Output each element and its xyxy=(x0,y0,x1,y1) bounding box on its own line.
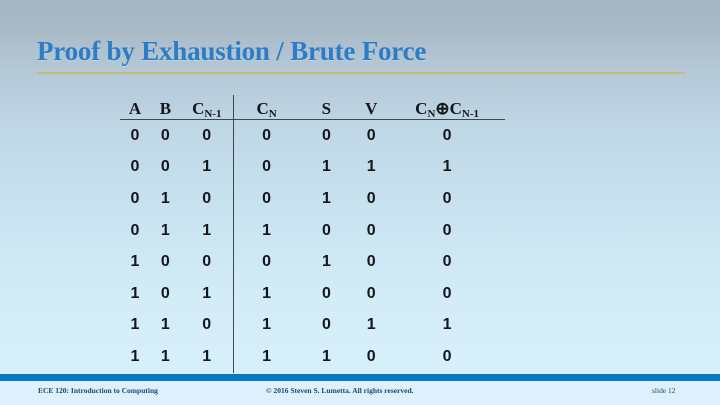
header-v: V xyxy=(353,95,389,120)
cell-c-n: 0 xyxy=(233,152,299,184)
cell-c-n: 0 xyxy=(233,120,299,152)
header-xor-sub-1: N xyxy=(427,108,435,120)
cell-c-n: 1 xyxy=(233,310,299,342)
cell-b: 1 xyxy=(150,341,181,373)
cell-c-n-minus-1: 1 xyxy=(181,278,233,310)
header-c-n-sub: N xyxy=(269,108,277,120)
cell-b: 0 xyxy=(150,120,181,152)
cell-a: 0 xyxy=(120,183,150,215)
cell-s: 1 xyxy=(300,341,354,373)
cell-c-n: 1 xyxy=(233,341,299,373)
cell-s: 0 xyxy=(300,215,354,247)
table-row: 0 1 1 1 0 0 0 xyxy=(120,215,505,247)
cell-c-n: 1 xyxy=(233,215,299,247)
cell-b: 0 xyxy=(150,246,181,278)
cell-c-n: 1 xyxy=(233,278,299,310)
cell-v: 0 xyxy=(353,246,389,278)
cell-a: 0 xyxy=(120,152,150,184)
cell-a: 1 xyxy=(120,278,150,310)
header-xor-base-2: C xyxy=(450,99,462,118)
cell-c-n-minus-1: 0 xyxy=(181,183,233,215)
table-row: 1 1 0 1 0 1 1 xyxy=(120,310,505,342)
cell-b: 0 xyxy=(150,152,181,184)
footer-accent-bar xyxy=(0,374,720,381)
cell-xor: 0 xyxy=(389,183,505,215)
cell-xor: 1 xyxy=(389,310,505,342)
cell-c-n: 0 xyxy=(233,246,299,278)
cell-xor: 1 xyxy=(389,152,505,184)
cell-xor: 0 xyxy=(389,341,505,373)
table-row: 0 1 0 0 1 0 0 xyxy=(120,183,505,215)
cell-xor: 0 xyxy=(389,246,505,278)
header-b: B xyxy=(150,95,181,120)
cell-a: 1 xyxy=(120,310,150,342)
cell-b: 1 xyxy=(150,310,181,342)
footer-copyright-label: © 2016 Steven S. Lumetta. All rights res… xyxy=(266,386,414,395)
title-divider-rule xyxy=(37,72,685,74)
cell-v: 1 xyxy=(353,152,389,184)
cell-xor: 0 xyxy=(389,120,505,152)
cell-s: 0 xyxy=(300,278,354,310)
footer: ECE 120: Introduction to Computing © 201… xyxy=(0,381,720,405)
header-s: S xyxy=(300,95,354,120)
cell-s: 0 xyxy=(300,310,354,342)
header-xor-base-1: C xyxy=(415,99,427,118)
truth-table: A B CN-1 CN S V CN⊕CN-1 0 0 0 0 0 0 0 xyxy=(120,95,505,373)
cell-c-n-minus-1: 0 xyxy=(181,310,233,342)
cell-v: 0 xyxy=(353,341,389,373)
header-c-n-minus-1-base: C xyxy=(192,99,204,118)
header-c-n-xor-c-n-minus-1: CN⊕CN-1 xyxy=(389,95,505,120)
cell-v: 0 xyxy=(353,120,389,152)
header-c-n-minus-1: CN-1 xyxy=(181,95,233,120)
xor-operator-icon: ⊕ xyxy=(435,99,449,118)
cell-v: 1 xyxy=(353,310,389,342)
footer-slide-number: slide 12 xyxy=(652,386,676,395)
cell-c-n-minus-1: 0 xyxy=(181,246,233,278)
cell-v: 0 xyxy=(353,215,389,247)
cell-s: 1 xyxy=(300,183,354,215)
cell-b: 1 xyxy=(150,215,181,247)
cell-xor: 0 xyxy=(389,278,505,310)
table-row: 0 0 1 0 1 1 1 xyxy=(120,152,505,184)
cell-v: 0 xyxy=(353,278,389,310)
cell-a: 1 xyxy=(120,246,150,278)
page-title: Proof by Exhaustion / Brute Force xyxy=(37,36,426,67)
cell-a: 0 xyxy=(120,215,150,247)
cell-b: 1 xyxy=(150,183,181,215)
cell-a: 1 xyxy=(120,341,150,373)
table-header-row: A B CN-1 CN S V CN⊕CN-1 xyxy=(120,95,505,120)
table-row: 1 0 0 0 1 0 0 xyxy=(120,246,505,278)
cell-c-n-minus-1: 1 xyxy=(181,215,233,247)
cell-a: 0 xyxy=(120,120,150,152)
cell-xor: 0 xyxy=(389,215,505,247)
header-c-n: CN xyxy=(233,95,299,120)
cell-c-n: 0 xyxy=(233,183,299,215)
cell-v: 0 xyxy=(353,183,389,215)
cell-s: 0 xyxy=(300,120,354,152)
cell-c-n-minus-1: 0 xyxy=(181,120,233,152)
cell-c-n-minus-1: 1 xyxy=(181,152,233,184)
header-xor-sub-2: N-1 xyxy=(462,108,479,120)
table-row: 0 0 0 0 0 0 0 xyxy=(120,120,505,152)
footer-course-label: ECE 120: Introduction to Computing xyxy=(38,386,158,395)
header-c-n-base: C xyxy=(256,99,268,118)
slide-canvas: Proof by Exhaustion / Brute Force A B CN… xyxy=(0,0,720,405)
table-row: 1 1 1 1 1 0 0 xyxy=(120,341,505,373)
table-row: 1 0 1 1 0 0 0 xyxy=(120,278,505,310)
header-a: A xyxy=(120,95,150,120)
cell-b: 0 xyxy=(150,278,181,310)
header-c-n-minus-1-sub: N-1 xyxy=(204,108,221,120)
cell-s: 1 xyxy=(300,246,354,278)
cell-c-n-minus-1: 1 xyxy=(181,341,233,373)
cell-s: 1 xyxy=(300,152,354,184)
